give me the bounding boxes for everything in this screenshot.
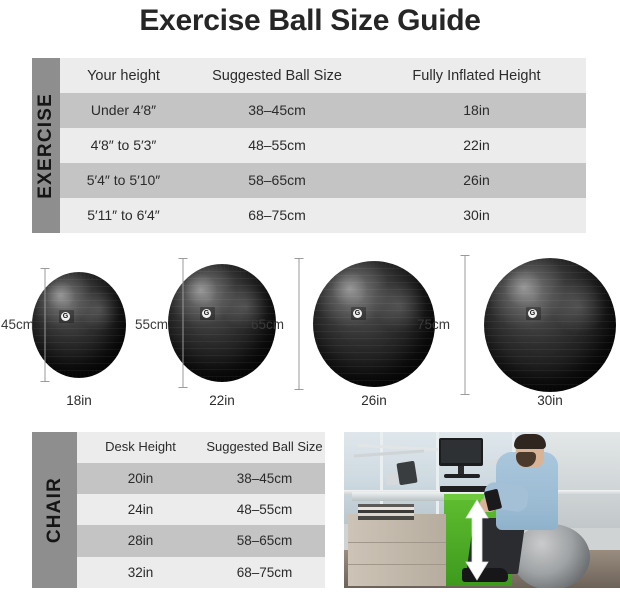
measure-label-65cm: 65cm — [251, 317, 284, 332]
exercise-table-grid: Your height Suggested Ball Size Fully In… — [60, 58, 586, 233]
chair-header-desk-height: Desk Height — [77, 432, 204, 463]
exercise-table-header-row: Your height Suggested Ball Size Fully In… — [60, 58, 586, 93]
office-usage-photo — [344, 432, 620, 588]
exercise-side-label: EXERCISE — [32, 58, 60, 233]
table-row: 5′11″ to 6′4″ 68–75cm 30in — [60, 198, 586, 233]
chair-header-suggested-ball-size: Suggested Ball Size — [204, 432, 325, 463]
measure-line — [45, 268, 46, 382]
exercise-header-your-height: Your height — [60, 58, 187, 93]
chair-side-label-text: CHAIR — [44, 477, 66, 543]
photo-cabinet-seam — [348, 564, 446, 565]
measure-cap-bottom — [179, 387, 188, 388]
measure-cap-bottom — [41, 381, 50, 382]
table-row: 4′8″ to 5′3″ 48–55cm 22in — [60, 128, 586, 163]
chair-table-header-row: Desk Height Suggested Ball Size — [77, 432, 325, 463]
exercise-header-fully-inflated-height: Fully Inflated Height — [367, 58, 586, 93]
ball-size-illustrations: G 45cm 18in G 55cm 22 — [0, 240, 620, 425]
chair-cell-ball-size: 38–45cm — [204, 463, 325, 494]
ball-brand-badge: G — [59, 310, 74, 323]
chair-side-label: CHAIR — [32, 432, 77, 588]
ball-caption-18in: 18in — [32, 393, 126, 408]
chair-cell-ball-size: 68–75cm — [204, 557, 325, 588]
ball-caption-30in: 30in — [484, 393, 616, 408]
exercise-side-label-text: EXERCISE — [35, 93, 57, 199]
exercise-cell-height: 5′4″ to 5′10″ — [60, 163, 187, 198]
table-row: 20in 38–45cm — [77, 463, 325, 494]
brand-logo-icon: G — [61, 312, 70, 321]
exercise-cell-height: 4′8″ to 5′3″ — [60, 128, 187, 163]
table-row: 5′4″ to 5′10″ 58–65cm 26in — [60, 163, 586, 198]
measure-line — [465, 255, 466, 395]
exercise-cell-ball-size: 38–45cm — [187, 93, 367, 128]
brand-logo-icon: G — [202, 309, 211, 318]
chair-cell-ball-size: 48–55cm — [204, 494, 325, 525]
ball-caption-26in: 26in — [313, 393, 435, 408]
ball-caption-22in: 22in — [168, 393, 276, 408]
ball-brand-badge: G — [200, 307, 215, 320]
measure-cap-top — [41, 268, 50, 269]
table-row: 24in 48–55cm — [77, 494, 325, 525]
photo-cabinet — [348, 514, 446, 586]
size-guide-page: Exercise Ball Size Guide EXERCISE Your h… — [0, 0, 620, 594]
photo-monitor-screen — [441, 440, 481, 463]
measure-rule-65cm — [294, 258, 304, 390]
measure-cap-bottom — [295, 389, 304, 390]
chair-table-grid: Desk Height Suggested Ball Size 20in 38–… — [77, 432, 325, 588]
ball-brand-badge: G — [526, 307, 541, 320]
chair-cell-desk-height: 32in — [77, 557, 204, 588]
exercise-cell-height: Under 4′8″ — [60, 93, 187, 128]
exercise-cell-inflated-height: 26in — [367, 163, 586, 198]
chair-size-table: CHAIR Desk Height Suggested Ball Size 20… — [32, 432, 325, 588]
photo-person-hair — [514, 434, 546, 449]
chair-cell-desk-height: 28in — [77, 525, 204, 556]
photo-monitor-stand — [458, 466, 464, 474]
chair-cell-ball-size: 58–65cm — [204, 525, 325, 556]
ball-graphic: G — [484, 258, 616, 392]
measure-cap-bottom — [461, 394, 470, 395]
photo-second-monitor — [396, 461, 417, 486]
exercise-size-table: EXERCISE Your height Suggested Ball Size… — [32, 58, 586, 233]
table-row: Under 4′8″ 38–45cm 18in — [60, 93, 586, 128]
photo-book-stack — [358, 504, 414, 520]
photo-cabinet-seam — [348, 542, 446, 543]
measure-cap-top — [295, 258, 304, 259]
exercise-header-suggested-ball-size: Suggested Ball Size — [187, 58, 367, 93]
photo-back-wall — [550, 432, 620, 528]
measure-line — [299, 258, 300, 390]
chair-cell-desk-height: 20in — [77, 463, 204, 494]
exercise-cell-ball-size: 68–75cm — [187, 198, 367, 233]
measure-cap-top — [461, 255, 470, 256]
ball-illustration-75cm: G — [484, 258, 616, 392]
exercise-cell-ball-size: 48–55cm — [187, 128, 367, 163]
exercise-cell-inflated-height: 18in — [367, 93, 586, 128]
height-adjust-arrow-icon — [464, 498, 490, 582]
measure-cap-top — [179, 258, 188, 259]
table-row: 32in 68–75cm — [77, 557, 325, 588]
page-title: Exercise Ball Size Guide — [0, 4, 620, 38]
measure-label-75cm: 75cm — [417, 317, 450, 332]
measure-rule-55cm — [178, 258, 188, 388]
measure-label-55cm: 55cm — [135, 317, 168, 332]
chair-cell-desk-height: 24in — [77, 494, 204, 525]
exercise-cell-ball-size: 58–65cm — [187, 163, 367, 198]
photo-monitor-base — [444, 474, 480, 478]
table-row: 28in 58–65cm — [77, 525, 325, 556]
exercise-cell-inflated-height: 30in — [367, 198, 586, 233]
measure-rule-75cm — [460, 255, 470, 395]
brand-logo-icon: G — [528, 309, 537, 318]
measure-rule-45cm — [40, 268, 50, 382]
exercise-cell-height: 5′11″ to 6′4″ — [60, 198, 187, 233]
exercise-cell-inflated-height: 22in — [367, 128, 586, 163]
measure-line — [183, 258, 184, 388]
ball-brand-badge: G — [351, 307, 366, 320]
brand-logo-icon: G — [353, 309, 362, 318]
measure-label-45cm: 45cm — [1, 317, 34, 332]
